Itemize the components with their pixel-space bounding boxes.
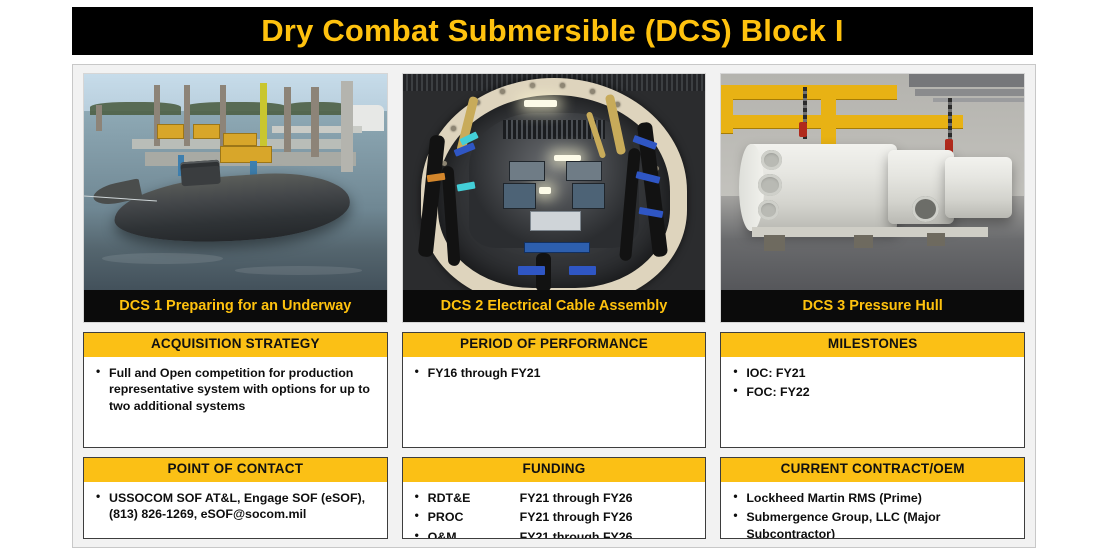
piling-5-yellow [260,83,268,148]
pressure-hull-scene [721,74,1024,292]
list-item: Lockheed Martin RMS (Prime) [733,490,1014,506]
funding-appropriation: O&M [428,529,520,539]
lift-hook-left [799,122,807,137]
slide-root: Dry Combat Submersible (DCS) Block I [0,0,1110,556]
lift-frame-4 [220,146,271,163]
lift-frame-3 [223,133,256,146]
submersible-sail [180,160,221,187]
list-item: Full and Open competition for production… [96,365,377,414]
hull-viewport-3 [758,200,779,220]
content-panel: DCS 1 Preparing for an Underway [72,64,1036,548]
box-acquisition-strategy: ACQUISITION STRATEGY Full and Open compe… [83,332,388,448]
box-header-funding: FUNDING [403,458,706,482]
cradle-support-1 [764,235,785,250]
blue-tape-marker [518,266,545,275]
box-current-contract-oem: CURRENT CONTRACT/OEM Lockheed Martin RMS… [720,457,1025,539]
blue-equipment-tray [524,242,591,253]
photo-caption-dcs-3: DCS 3 Pressure Hull [721,290,1024,322]
lift-frame-1 [157,124,184,139]
box-body-acquisition-strategy: Full and Open competition for production… [84,357,387,447]
pressure-hull-aft-section [945,157,1012,218]
photo-caption-dcs-1: DCS 1 Preparing for an Underway [84,290,387,322]
gantry-crane-post [821,96,836,144]
gantry-crane-end-post [721,98,733,133]
box-body-funding: RDT&E FY21 through FY26 PROC FY21 throug… [403,482,706,539]
water-ripple-1 [102,253,223,264]
photo-caption-dcs-2: DCS 2 Electrical Cable Assembly [403,290,706,322]
period-of-performance-list: FY16 through FY21 [415,365,696,381]
box-point-of-contact: POINT OF CONTACT USSOCOM SOF AT&L, Engag… [83,457,388,539]
console-shroud-right [566,161,602,181]
photo-dcs-2-image [403,74,706,292]
box-header-milestones: MILESTONES [721,333,1024,357]
list-item: RDT&E FY21 through FY26 [415,490,696,506]
cradle-support-3 [927,233,945,246]
piling-1 [96,105,102,131]
photo-card-dcs-2: DCS 2 Electrical Cable Assembly [402,73,707,323]
cable-assembly-scene [403,74,706,292]
roof-purlin [915,89,1024,96]
display-monitor-left [503,183,536,209]
point-of-contact-list: USSOCOM SOF AT&L, Engage SOF (eSOF), (81… [96,490,377,523]
funding-list: RDT&E FY21 through FY26 PROC FY21 throug… [415,490,696,539]
display-monitor-right [572,183,605,209]
box-body-point-of-contact: USSOCOM SOF AT&L, Engage SOF (eSOF), (81… [84,482,387,538]
piling-6 [284,87,292,152]
box-body-milestones: IOC: FY21 FOC: FY22 [721,357,1024,447]
box-header-current-contract-oem: CURRENT CONTRACT/OEM [721,458,1024,482]
water-ripple-2 [235,266,362,275]
list-item: PROC FY21 through FY26 [415,509,696,525]
funding-appropriation: PROC [428,509,520,525]
current-contract-oem-list: Lockheed Martin RMS (Prime) Submergence … [733,490,1014,539]
treeline-center [184,102,287,115]
piling-8-column [341,81,353,173]
work-light-3 [539,187,551,194]
box-header-acquisition-strategy: ACQUISITION STRATEGY [84,333,387,357]
box-milestones: MILESTONES IOC: FY21 FOC: FY22 [720,332,1025,448]
content-grid: DCS 1 Preparing for an Underway [83,73,1025,539]
funding-period: FY21 through FY26 [520,509,696,525]
lift-frame-2 [193,124,220,139]
hull-viewport-2 [758,174,782,196]
piling-7 [311,87,319,157]
funding-period: FY21 through FY26 [520,490,696,506]
box-funding: FUNDING RDT&E FY21 through FY26 PROC FY2… [402,457,707,539]
cradle-support-2 [854,235,872,248]
photo-dcs-3-image [721,74,1024,292]
gantry-crane-beam-lower [721,115,963,128]
ring-bolt [530,83,535,88]
milestones-list: IOC: FY21 FOC: FY22 [733,365,1014,401]
list-item: O&M FY21 through FY26 [415,529,696,539]
console-shroud-left [509,161,545,181]
blue-tape-marker [569,266,596,275]
photo-card-dcs-3: DCS 3 Pressure Hull [720,73,1025,323]
ring-bolt [560,83,565,88]
acquisition-strategy-list: Full and Open competition for production… [96,365,377,414]
funding-appropriation: RDT&E [428,490,520,506]
list-item: FY16 through FY21 [415,365,696,381]
ring-bolt [500,89,505,94]
page-title: Dry Combat Submersible (DCS) Block I [261,13,844,49]
list-item: FOC: FY22 [733,384,1014,400]
submarine-dock-scene [84,74,387,292]
slide-title-banner: Dry Combat Submersible (DCS) Block I [72,7,1033,55]
box-period-of-performance: PERIOD OF PERFORMANCE FY16 through FY21 [402,332,707,448]
roof-purlin-2 [933,98,1024,102]
roof-structure [909,74,1024,87]
funding-period: FY21 through FY26 [520,529,696,539]
center-control-panel [530,211,581,231]
photo-dcs-1-image [84,74,387,292]
list-item: USSOCOM SOF AT&L, Engage SOF (eSOF), (81… [96,490,377,523]
hull-viewport-1 [761,150,782,170]
photo-card-dcs-1: DCS 1 Preparing for an Underway [83,73,388,323]
piling-3 [184,85,190,146]
work-light-1 [524,100,557,107]
box-body-period-of-performance: FY16 through FY21 [403,357,706,447]
box-header-point-of-contact: POINT OF CONTACT [84,458,387,482]
box-body-current-contract-oem: Lockheed Martin RMS (Prime) Submergence … [721,482,1024,539]
box-header-period-of-performance: PERIOD OF PERFORMANCE [403,333,706,357]
list-item: Submergence Group, LLC (Major Subcontrac… [733,509,1014,539]
list-item: IOC: FY21 [733,365,1014,381]
submersible-hull [112,168,352,250]
gantry-crane-beam-upper [721,85,897,99]
treeline-left [90,102,181,115]
